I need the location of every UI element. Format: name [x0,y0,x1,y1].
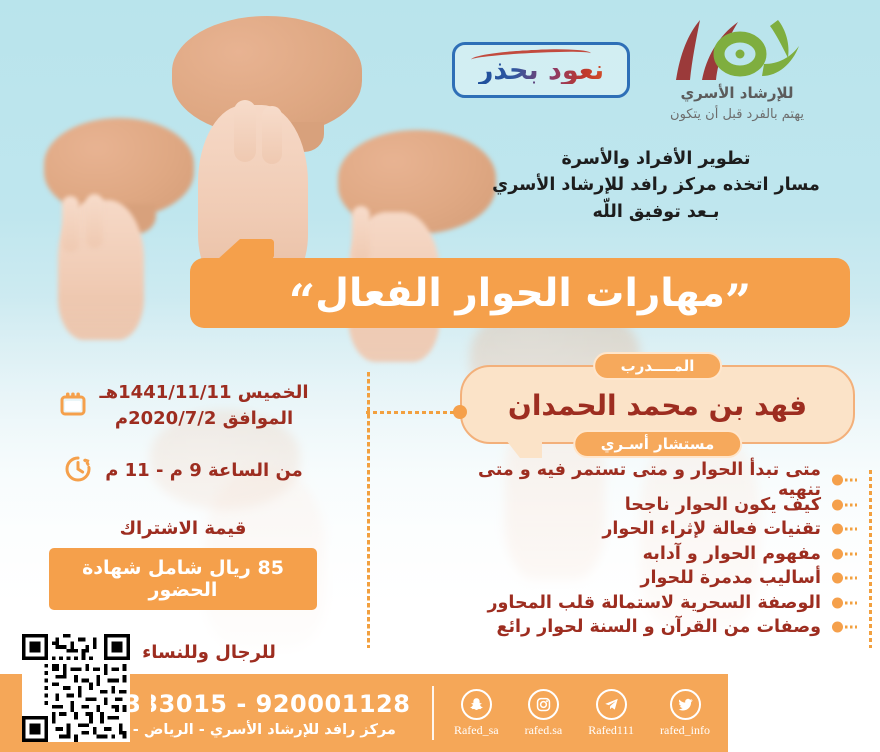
finger-left-1 [62,196,79,252]
banner-tail [218,239,274,259]
bullet-lead-line [845,503,857,506]
social-telegram[interactable]: Rafed111 [588,689,634,738]
speech-bubble-prop-left [44,118,194,218]
telegram-icon[interactable] [596,689,627,720]
list-item: متى تبدأ الحوار و متى تستمر فيه و متى تن… [465,468,855,493]
trainer-connector-line [366,411,456,414]
fee-label: قيمة الاشتراك [18,518,348,539]
trainer-role-top: المــــدرب [593,352,723,380]
brand-logo: للإرشاد الأسري يهتم بالفرد قبل أن يتكون [612,14,862,122]
snapchat-icon[interactable] [461,689,492,720]
return-with-caution-badge: نعود بحذر [452,42,630,98]
date-hijri: الخميس 1441/11/11هـ [100,380,309,406]
social-links: rafed_info Rafed111 [440,689,728,738]
finger-right-1 [352,206,370,262]
event-title: مهارات الحوار الفعال [315,271,725,316]
trainer-name: فهد بن محمد الحمدان [488,389,827,422]
audience-text: للرجال وللنساء [142,640,276,666]
bullet-dot-icon [832,622,843,633]
topic-label: تقنيات فعالة لإثراء الحوار [602,519,821,539]
tagline-line-2: مسار اتخذه مركز رافد للإرشاد الأسري [456,172,856,198]
clock-icon [63,454,93,488]
event-title-banner: ” مهارات الحوار الفعال “ [190,258,850,328]
tagline-line-1: تطوير الأفراد والأسرة [456,146,856,172]
social-handle: rafed.sa [525,723,563,738]
social-handle: Rafed111 [588,723,634,738]
bullet-dot-icon [832,524,843,535]
bullet-dot-icon [832,597,843,608]
tagline-block: تطوير الأفراد والأسرة مسار اتخذه مركز را… [456,146,856,225]
logo-tagline: يهتم بالفرد قبل أن يتكون [612,107,862,122]
finger-left-2 [86,194,103,248]
instagram-icon[interactable] [528,689,559,720]
trainer-card-tail [506,440,542,458]
footer-bar: rafed_info Rafed111 [0,674,880,752]
topic-label: أساليب مدمرة للحوار [640,568,821,588]
date-row: الخميس 1441/11/11هـ الموافق 2020/7/2م [18,380,348,432]
fee-value: 85 ريال شامل شهادة الحضور [49,548,317,610]
topic-label: مفهوم الحوار و آدابه [643,544,821,564]
calendar-icon [58,389,88,423]
bullet-lead-line [845,577,857,580]
list-item: وصفات من القرآن و السنة لحوار رائع [465,615,855,640]
topics-rail [869,470,872,648]
bullet-lead-line [845,626,857,629]
tagline-line-3: بـعد توفيق اللّه [456,199,856,225]
bullet-dot-icon [832,475,843,486]
bullet-lead-line [845,601,857,604]
bullet-dot-icon [832,499,843,510]
social-handle: rafed_info [660,723,710,738]
list-item: كيف يكون الحوار ناجحا [465,493,855,518]
list-item: تقنيات فعالة لإثراء الحوار [465,517,855,542]
qr-code-area [728,674,880,752]
date-text: الخميس 1441/11/11هـ الموافق 2020/7/2م [100,380,309,432]
trainer-box: المــــدرب فهد بن محمد الحمدان مستشار أس… [460,365,855,444]
date-gregorian: الموافق 2020/7/2م [100,406,309,432]
poster-root: للإرشاد الأسري يهتم بالفرد قبل أن يتكون … [0,0,880,752]
topics-list: متى تبدأ الحوار و متى تستمر فيه و متى تن… [465,468,855,640]
bullet-lead-line [845,552,857,555]
social-handle: Rafed_sa [454,723,499,738]
bullet-lead-line [845,479,857,482]
bullet-dot-icon [832,573,843,584]
footer-separator [432,686,434,740]
twitter-icon[interactable] [670,689,701,720]
list-item: الوصفة السحرية لاستمالة قلب المحاور [465,591,855,616]
bullet-dot-icon [832,548,843,559]
speech-bubble-prop-center [172,16,362,136]
trainer-card: المــــدرب فهد بن محمد الحمدان مستشار أس… [460,365,855,444]
topic-label: الوصفة السحرية لاستمالة قلب المحاور [487,593,821,613]
qr-code[interactable] [22,634,130,742]
time-text: من الساعة 9 م - 11 م [105,458,303,484]
list-item: مفهوم الحوار و آدابه [465,542,855,567]
caution-badge-label: نعود بحذر [478,57,604,84]
finger-center-2 [262,106,282,164]
bullet-lead-line [845,528,857,531]
social-instagram[interactable]: rafed.sa [525,689,563,738]
trainer-role-bottom: مستشار أسـري [573,430,743,458]
event-details: الخميس 1441/11/11هـ الموافق 2020/7/2م من… [18,380,348,672]
hand-left [58,200,144,340]
time-row: من الساعة 9 م - 11 م [18,454,348,488]
footer-accent-strip [142,680,151,734]
rafed-logo-mark [612,14,862,88]
topic-label: وصفات من القرآن و السنة لحوار رائع [496,617,821,637]
finger-center-1 [234,100,256,162]
list-item: أساليب مدمرة للحوار [465,566,855,591]
social-snapchat[interactable]: Rafed_sa [454,689,499,738]
social-twitter[interactable]: rafed_info [660,689,710,738]
topic-label: كيف يكون الحوار ناجحا [625,495,821,515]
